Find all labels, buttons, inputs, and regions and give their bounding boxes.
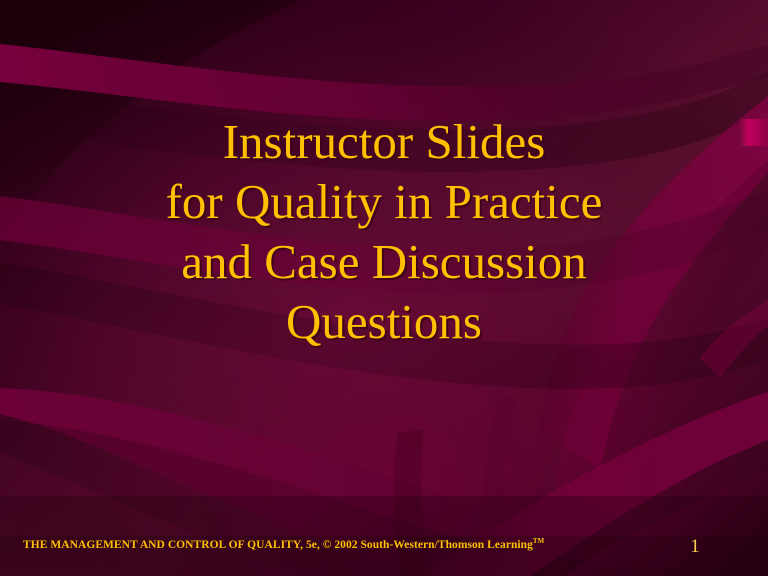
slide-footer-copyright: THE MANAGEMENT AND CONTROL OF QUALITY, 5… (23, 538, 544, 553)
title-line-3: and Case Discussion (0, 232, 768, 292)
slide-page-number: 1 (672, 536, 718, 558)
presentation-slide: Instructor Slides for Quality in Practic… (0, 0, 768, 576)
title-line-2: for Quality in Practice (0, 172, 768, 232)
footer-text: THE MANAGEMENT AND CONTROL OF QUALITY, 5… (23, 539, 533, 551)
title-line-1: Instructor Slides (0, 112, 768, 172)
trademark-symbol: TM (533, 537, 544, 545)
title-line-4: Questions (0, 292, 768, 352)
slide-title: Instructor Slides for Quality in Practic… (0, 112, 768, 352)
